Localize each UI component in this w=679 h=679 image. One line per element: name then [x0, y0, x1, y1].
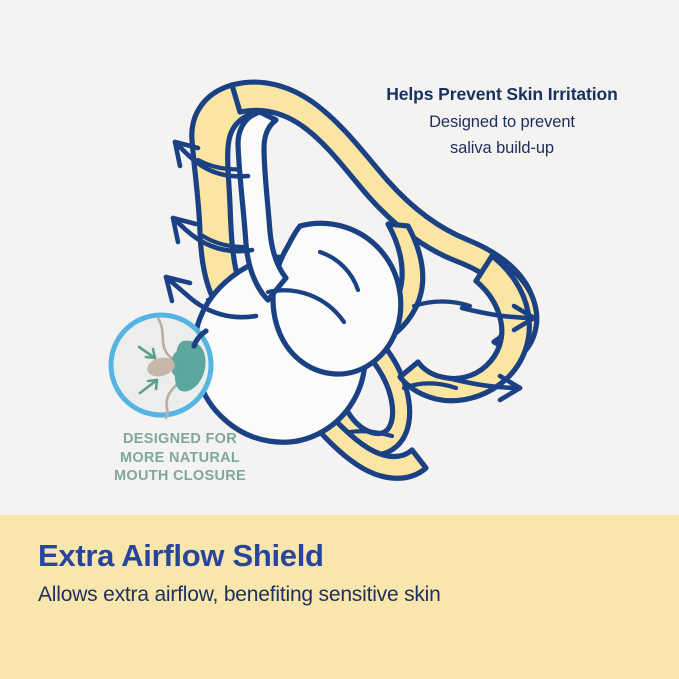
illustration-area: Helps Prevent Skin Irritation Designed t…: [0, 0, 679, 515]
inset-caption-line-3: MOUTH CLOSURE: [60, 467, 300, 486]
nipple-upper-bulb: [273, 223, 401, 374]
callout-line-2: saliva build-up: [352, 136, 652, 162]
inset-caption-line-2: MORE NATURAL: [60, 449, 300, 468]
feature-banner: Extra Airflow Shield Allows extra airflo…: [0, 515, 679, 679]
inset-caption-line-1: DESIGNED FOR: [60, 430, 300, 449]
mouth-closure-inset: [111, 315, 211, 418]
skin-irritation-callout: Helps Prevent Skin Irritation Designed t…: [352, 82, 652, 162]
mouth-closure-caption: DESIGNED FOR MORE NATURAL MOUTH CLOSURE: [60, 430, 300, 486]
banner-title: Extra Airflow Shield: [38, 539, 679, 573]
product-feature-panel: Helps Prevent Skin Irritation Designed t…: [0, 0, 679, 679]
banner-subtitle: Allows extra airflow, benefiting sensiti…: [38, 582, 679, 607]
callout-heading: Helps Prevent Skin Irritation: [352, 82, 652, 107]
callout-line-1: Designed to prevent: [352, 110, 652, 136]
